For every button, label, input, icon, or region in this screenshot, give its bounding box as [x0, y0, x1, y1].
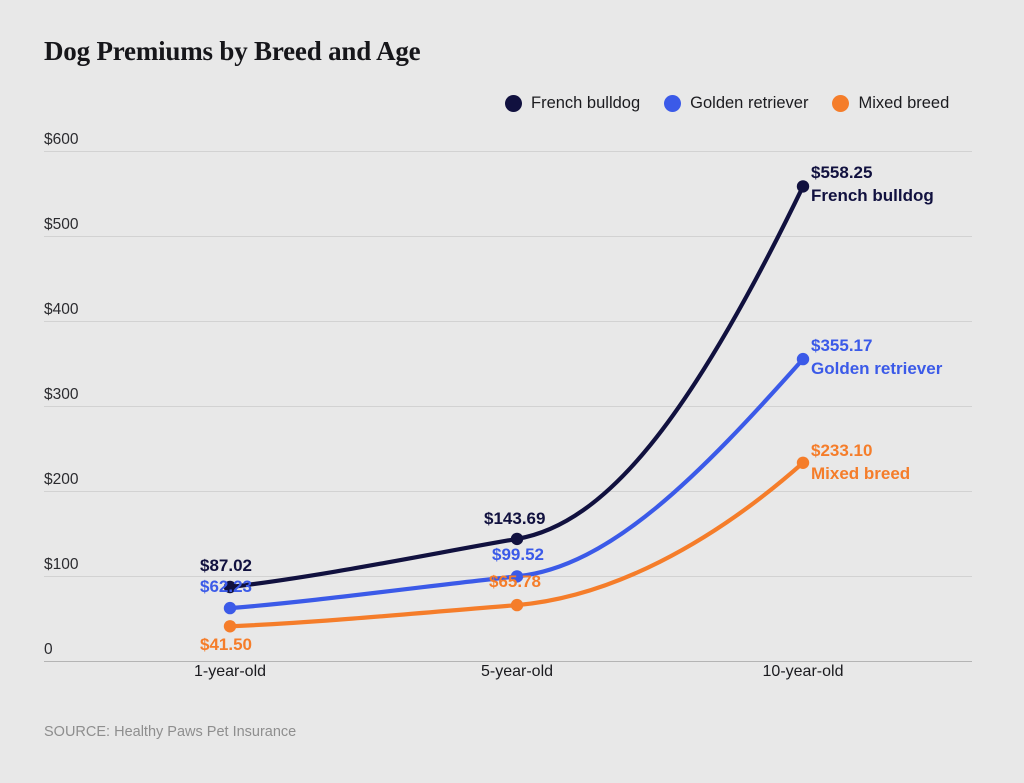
data-point-marker — [797, 180, 809, 192]
data-label-french-bulldog-1: $87.02 — [200, 555, 252, 577]
data-point-marker — [797, 353, 809, 365]
chart-card: Dog Premiums by Breed and Age French bul… — [0, 0, 1024, 783]
data-label-french-bulldog-5: $143.69 — [484, 508, 545, 530]
data-label-mixed-breed-5: $65.78 — [489, 571, 541, 593]
end-annotation-value: $355.17 — [811, 335, 942, 358]
gridline-600 — [44, 151, 972, 152]
x-axis-line — [44, 661, 972, 662]
end-annotation-series: Mixed breed — [811, 463, 910, 486]
gridline-300 — [44, 406, 972, 407]
data-label-mixed-breed-1: $41.50 — [200, 634, 252, 656]
x-axis-tick-5-year-old: 5-year-old — [481, 663, 553, 681]
end-annotation-series: French bulldog — [811, 185, 934, 208]
end-annotation-value: $558.25 — [811, 162, 934, 185]
data-point-marker — [224, 602, 236, 614]
end-annotation-golden-retriever: $355.17 Golden retriever — [811, 335, 942, 381]
y-axis-tick-500: $500 — [44, 216, 78, 234]
gridline-400 — [44, 321, 972, 322]
data-point-marker — [224, 620, 236, 632]
plot-area: $600 $500 $400 $300 $200 $100 0 1-year-o… — [0, 0, 1024, 783]
y-axis-tick-600: $600 — [44, 131, 78, 149]
y-axis-tick-100: $100 — [44, 556, 78, 574]
end-annotation-value: $233.10 — [811, 440, 910, 463]
y-axis-tick-300: $300 — [44, 386, 78, 404]
end-annotation-french-bulldog: $558.25 French bulldog — [811, 162, 934, 208]
x-axis-tick-1-year-old: 1-year-old — [194, 663, 266, 681]
gridline-200 — [44, 491, 972, 492]
x-axis-tick-10-year-old: 10-year-old — [763, 663, 844, 681]
end-annotation-mixed-breed: $233.10 Mixed breed — [811, 440, 910, 486]
data-point-marker — [797, 457, 809, 469]
end-annotation-series: Golden retriever — [811, 358, 942, 381]
source-note: SOURCE: Healthy Paws Pet Insurance — [44, 724, 296, 740]
data-label-golden-retriever-1: $62.23 — [200, 576, 252, 598]
gridline-500 — [44, 236, 972, 237]
y-axis-tick-0: 0 — [44, 641, 53, 659]
data-label-golden-retriever-5: $99.52 — [492, 544, 544, 566]
y-axis-tick-400: $400 — [44, 301, 78, 319]
data-point-marker — [511, 599, 523, 611]
y-axis-tick-200: $200 — [44, 471, 78, 489]
